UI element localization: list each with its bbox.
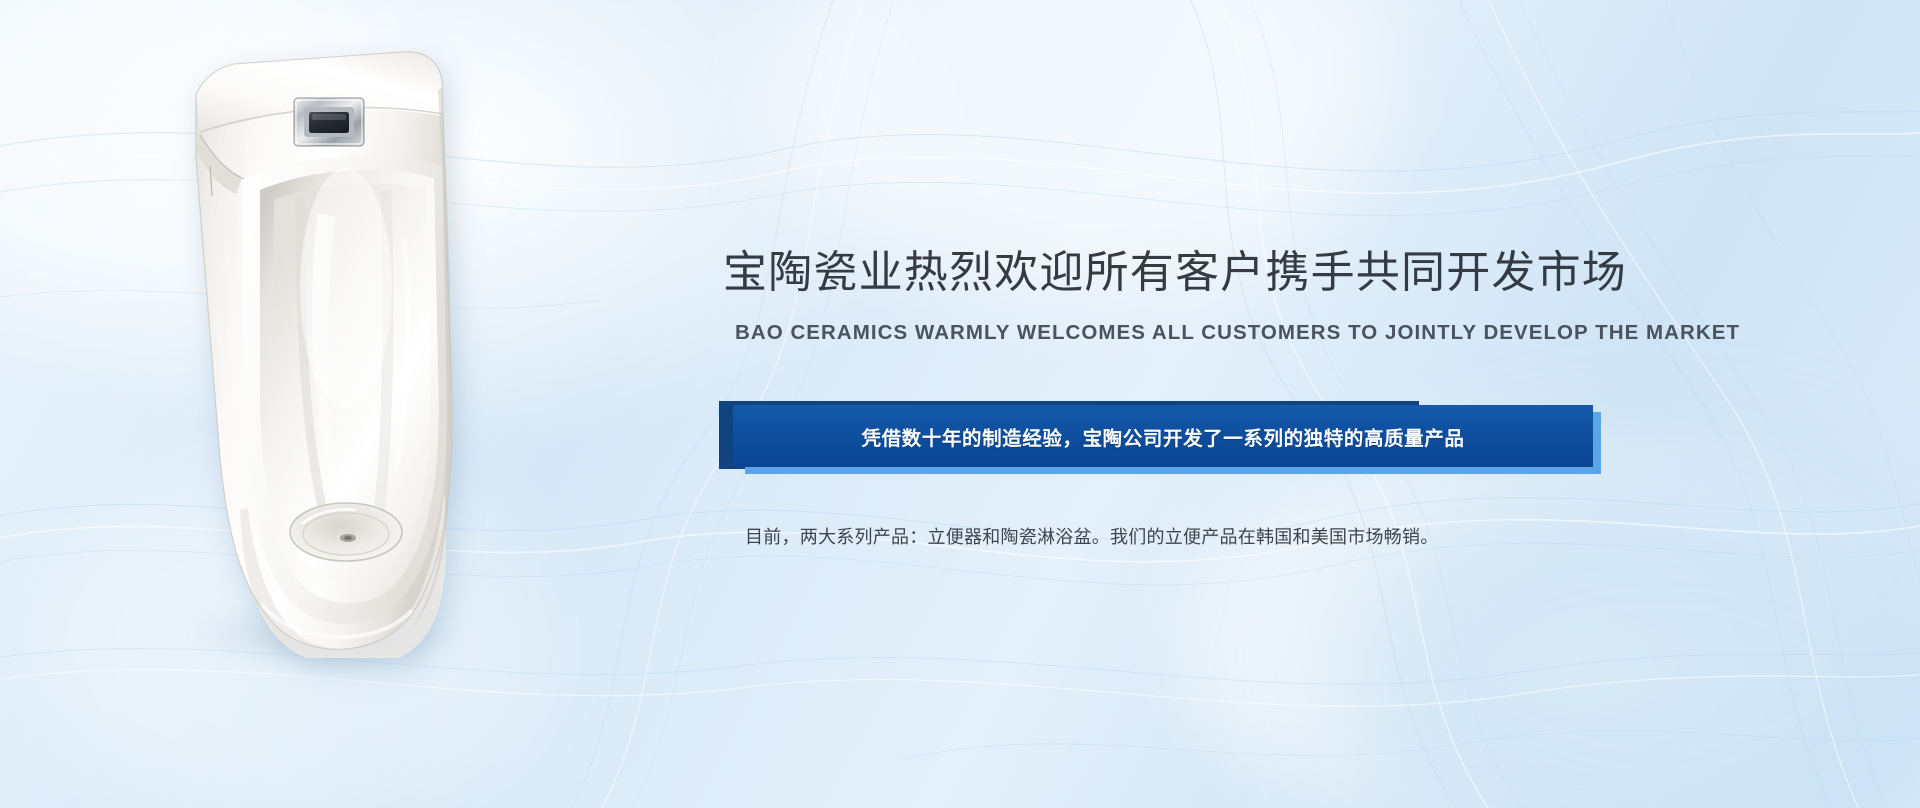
banner-text: 凭借数十年的制造经验，宝陶公司开发了一系列的独特的高质量产品 — [861, 422, 1464, 451]
drain-strainer — [340, 534, 356, 542]
hero-banner: 宝陶瓷业热烈欢迎所有客户携手共同开发市场 BAO CERAMICS WARMLY… — [0, 0, 1920, 808]
product-series-note: 目前，两大系列产品：立便器和陶瓷淋浴盆。我们的立便产品在韩国和美国市场畅销。 — [745, 524, 1585, 551]
banner-accent-bar-bottom — [745, 466, 1601, 474]
highlight-banner: 凭借数十年的制造经验，宝陶公司开发了一系列的独特的高质量产品 — [719, 398, 1599, 490]
page-subtitle: BAO CERAMICS WARMLY WELCOMES ALL CUSTOME… — [735, 320, 1581, 346]
ceramic-urinal-photo — [150, 38, 550, 658]
infrared-flush-sensor — [294, 98, 364, 146]
page-title: 宝陶瓷业热烈欢迎所有客户携手共同开发市场 — [723, 247, 1583, 299]
hero-copy-block: 宝陶瓷业热烈欢迎所有客户携手共同开发市场 BAO CERAMICS WARMLY… — [723, 0, 1593, 808]
urinal-illustration — [150, 38, 550, 658]
banner-accent-bar-right — [1593, 412, 1601, 474]
banner-body: 凭借数十年的制造经验，宝陶公司开发了一系列的独特的高质量产品 — [733, 405, 1593, 467]
